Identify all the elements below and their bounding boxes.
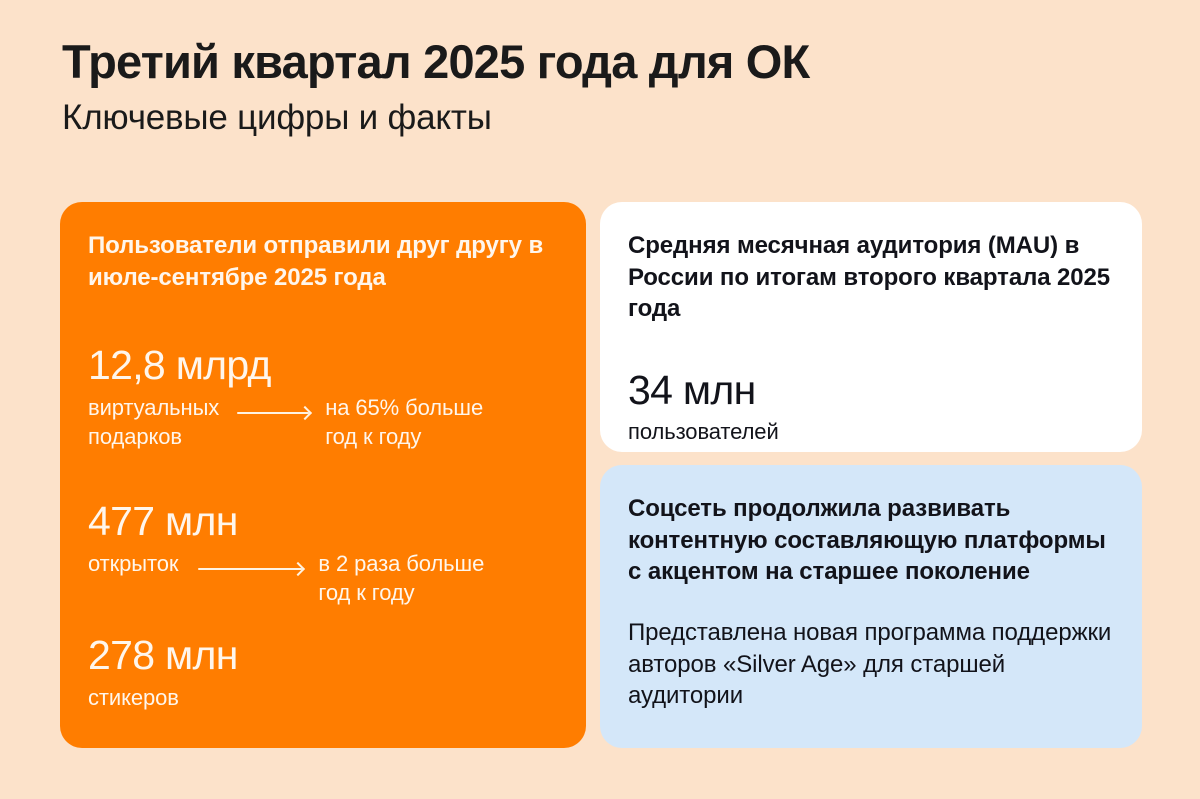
arrow-head	[291, 562, 305, 576]
card-content-strategy-heading: Соцсеть продолжила развивать контентную …	[628, 493, 1116, 588]
stat-postcards-label: открыток	[88, 550, 178, 579]
stat-postcards: 477 млн открыток в 2 раза больше год к г…	[88, 500, 562, 608]
stat-stickers: 278 млн стикеров	[88, 634, 562, 713]
card-mau-heading: Средняя месячная аудитория (MAU) в Росси…	[628, 230, 1116, 325]
arrow-line	[198, 568, 302, 570]
arrow-head	[298, 406, 312, 420]
card-gifts-heading: Пользователи отправили друг другу в июле…	[88, 230, 560, 293]
card-content-strategy: Соцсеть продолжила развивать контентную …	[600, 465, 1142, 748]
card-gifts-header: Пользователи отправили друг другу в июле…	[88, 230, 560, 293]
card-gifts: Пользователи отправили друг другу в июле…	[60, 202, 586, 748]
header: Третий квартал 2025 года для ОК Ключевые…	[62, 38, 1142, 137]
stat-stickers-label: стикеров	[88, 684, 179, 713]
infographic-page: Третий квартал 2025 года для ОК Ключевые…	[0, 0, 1200, 799]
stat-virtual-gifts: 12,8 млрд виртуальных подарков на 65% бо…	[88, 344, 562, 452]
card-mau: Средняя месячная аудитория (MAU) в Росси…	[600, 202, 1142, 452]
card-mau-label: пользователей	[628, 418, 1116, 447]
arrow-right-icon	[198, 558, 302, 580]
stat-postcards-comparison: в 2 раза больше год к году	[318, 550, 484, 607]
card-mau-inner: Средняя месячная аудитория (MAU) в Росси…	[628, 230, 1116, 447]
page-subtitle: Ключевые цифры и факты	[62, 98, 1142, 137]
stat-postcards-value: 477 млн	[88, 500, 562, 543]
stat-virtual-gifts-label: виртуальных подарков	[88, 394, 219, 451]
stat-stickers-value: 278 млн	[88, 634, 562, 677]
arrow-right-icon	[237, 402, 309, 424]
card-content-strategy-inner: Соцсеть продолжила развивать контентную …	[628, 493, 1116, 712]
card-content-strategy-body: Представлена новая программа поддержки а…	[628, 617, 1116, 712]
card-mau-value: 34 млн	[628, 369, 1116, 412]
stat-virtual-gifts-value: 12,8 млрд	[88, 344, 562, 387]
page-title: Третий квартал 2025 года для ОК	[62, 38, 1142, 87]
stat-virtual-gifts-comparison: на 65% больше год к году	[325, 394, 483, 451]
